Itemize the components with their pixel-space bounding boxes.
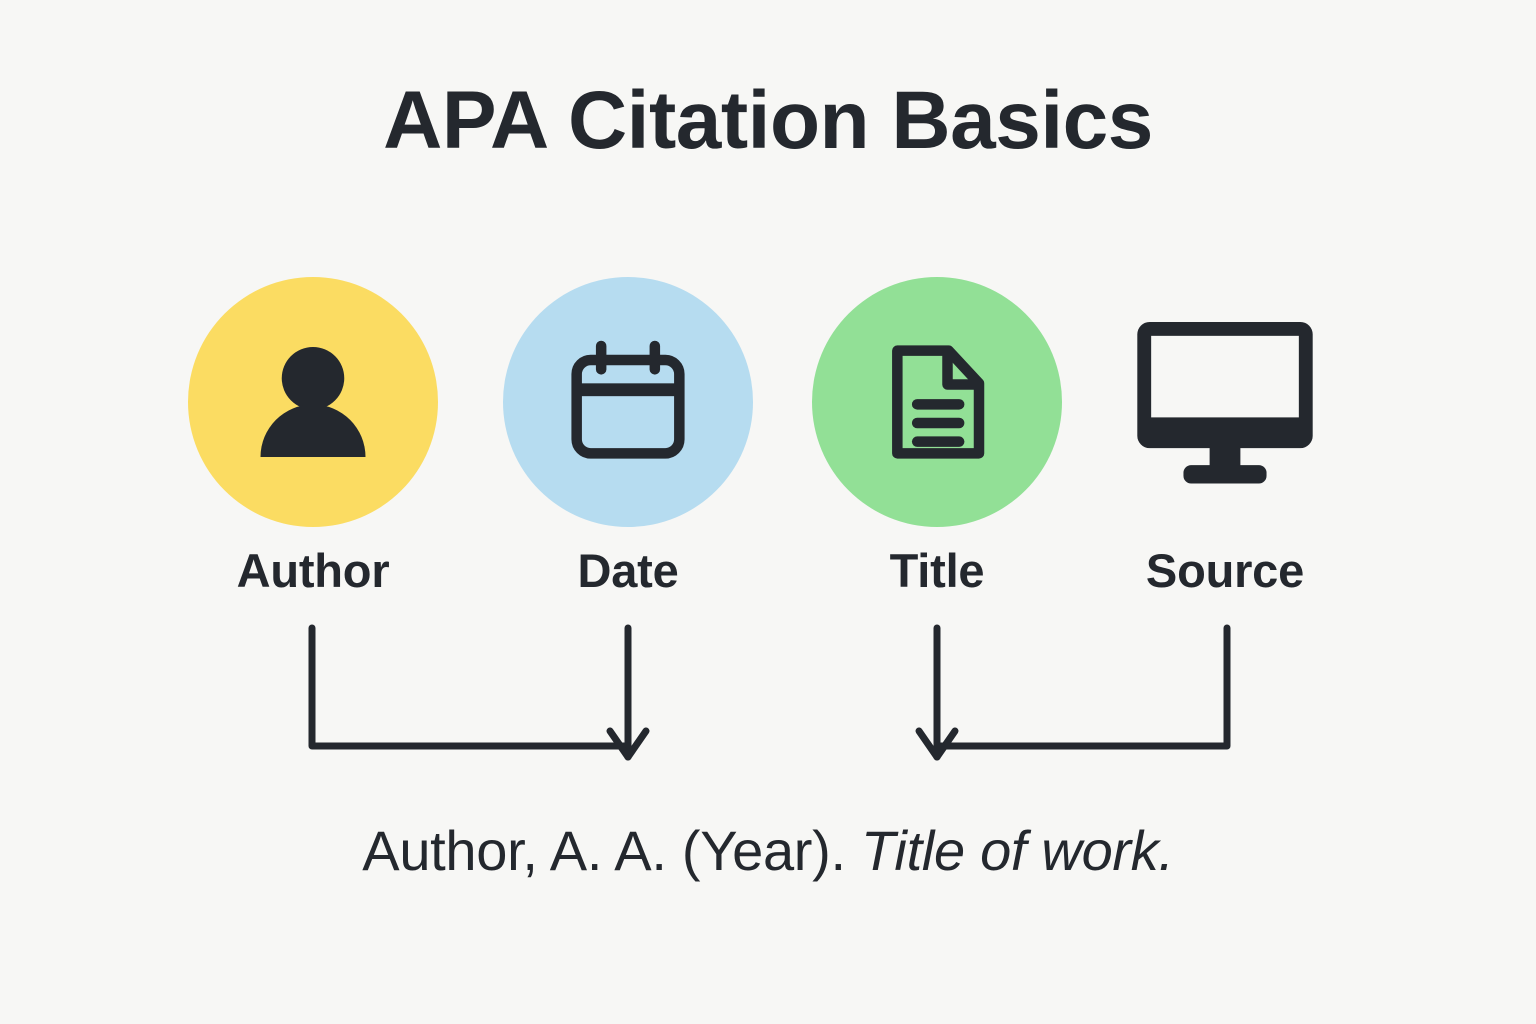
citation-italic-part: Title of work. xyxy=(861,819,1174,882)
label-title: Title xyxy=(777,543,1097,598)
calendar-icon xyxy=(503,277,753,527)
connector-source-elbow xyxy=(937,628,1227,746)
page-title: APA Citation Basics xyxy=(0,78,1536,164)
element-author[interactable] xyxy=(188,277,438,527)
person-icon xyxy=(188,277,438,527)
arrowhead-left-group xyxy=(610,731,646,757)
element-date[interactable] xyxy=(503,277,753,527)
label-source: Source xyxy=(1065,543,1385,598)
label-row: Author Date Title Source xyxy=(0,543,1536,605)
element-title[interactable] xyxy=(812,277,1062,527)
arrowhead-right-group xyxy=(919,731,955,757)
label-author: Author xyxy=(153,543,473,598)
infographic-canvas: APA Citation Basics xyxy=(0,0,1536,1024)
label-date: Date xyxy=(468,543,788,598)
connector-author-elbow xyxy=(312,628,628,746)
monitor-icon xyxy=(1100,277,1350,527)
element-source[interactable] xyxy=(1100,277,1350,527)
citation-example: Author, A. A. (Year). Title of work. xyxy=(0,818,1536,883)
citation-plain-part: Author, A. A. (Year). xyxy=(362,819,861,882)
icon-row xyxy=(0,277,1536,527)
document-icon xyxy=(812,277,1062,527)
